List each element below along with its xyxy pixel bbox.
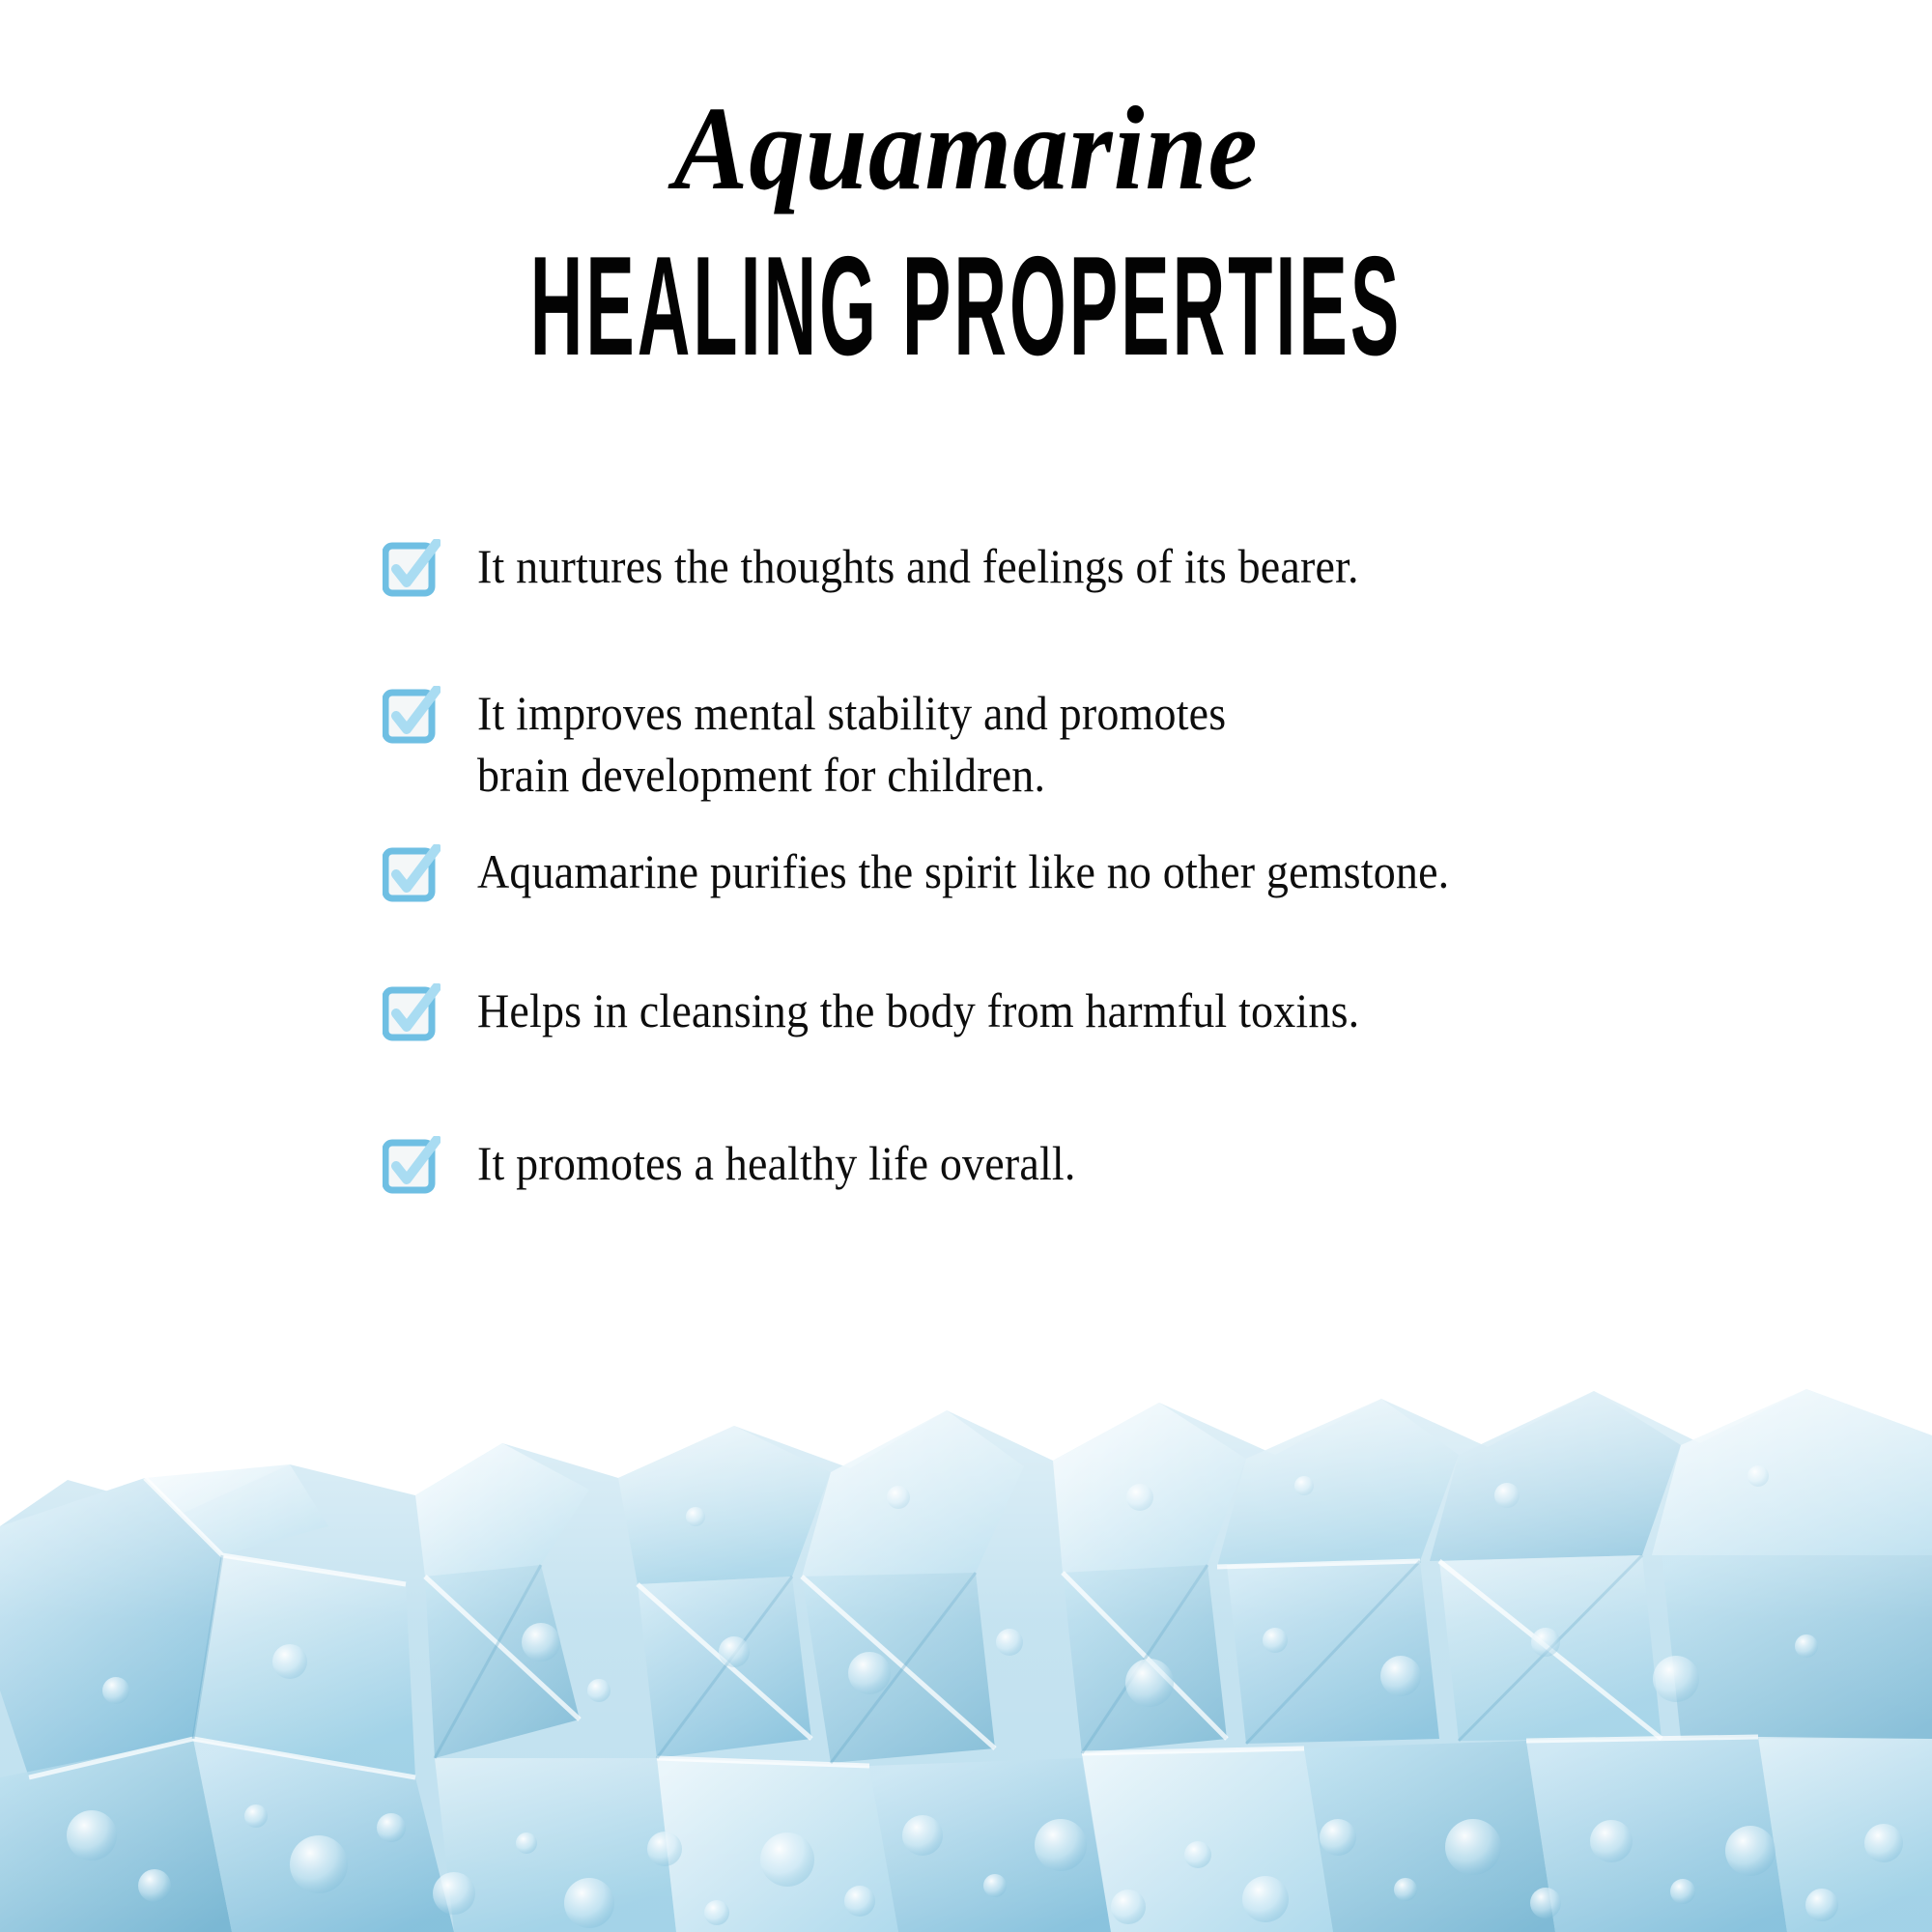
page-title: HEALING PROPERTIES [386, 236, 1546, 377]
list-item-label: Aquamarine purifies the spirit like no o… [477, 840, 1449, 902]
list-item-label: It improves mental stability and promote… [477, 682, 1226, 806]
heading-block: Aquamarine HEALING PROPERTIES [0, 89, 1932, 357]
checkbox-checked-icon [383, 844, 440, 904]
list-item-label: It nurtures the thoughts and feelings of… [477, 535, 1359, 597]
checkbox-checked-icon [383, 1136, 440, 1196]
healing-properties-list: It nurtures the thoughts and feelings of… [383, 535, 1812, 1196]
list-item: Helps in cleansing the body from harmful… [383, 980, 1812, 1043]
list-item: It nurtures the thoughts and feelings of… [383, 535, 1812, 599]
ice-fade-overlay [0, 1236, 1932, 1932]
list-item: It improves mental stability and promote… [383, 682, 1812, 806]
poster-canvas: Aquamarine HEALING PROPERTIES It nurture… [0, 0, 1932, 1932]
list-item-label: Helps in cleansing the body from harmful… [477, 980, 1359, 1041]
ice-cubes-photo [0, 1236, 1932, 1932]
list-item-label: It promotes a healthy life overall. [477, 1132, 1076, 1194]
checkbox-checked-icon [383, 983, 440, 1043]
list-item: Aquamarine purifies the spirit like no o… [383, 840, 1812, 904]
list-item: It promotes a healthy life overall. [383, 1132, 1812, 1196]
checkbox-checked-icon [383, 539, 440, 599]
checkbox-checked-icon [383, 686, 440, 746]
script-title: Aquamarine [68, 89, 1864, 209]
